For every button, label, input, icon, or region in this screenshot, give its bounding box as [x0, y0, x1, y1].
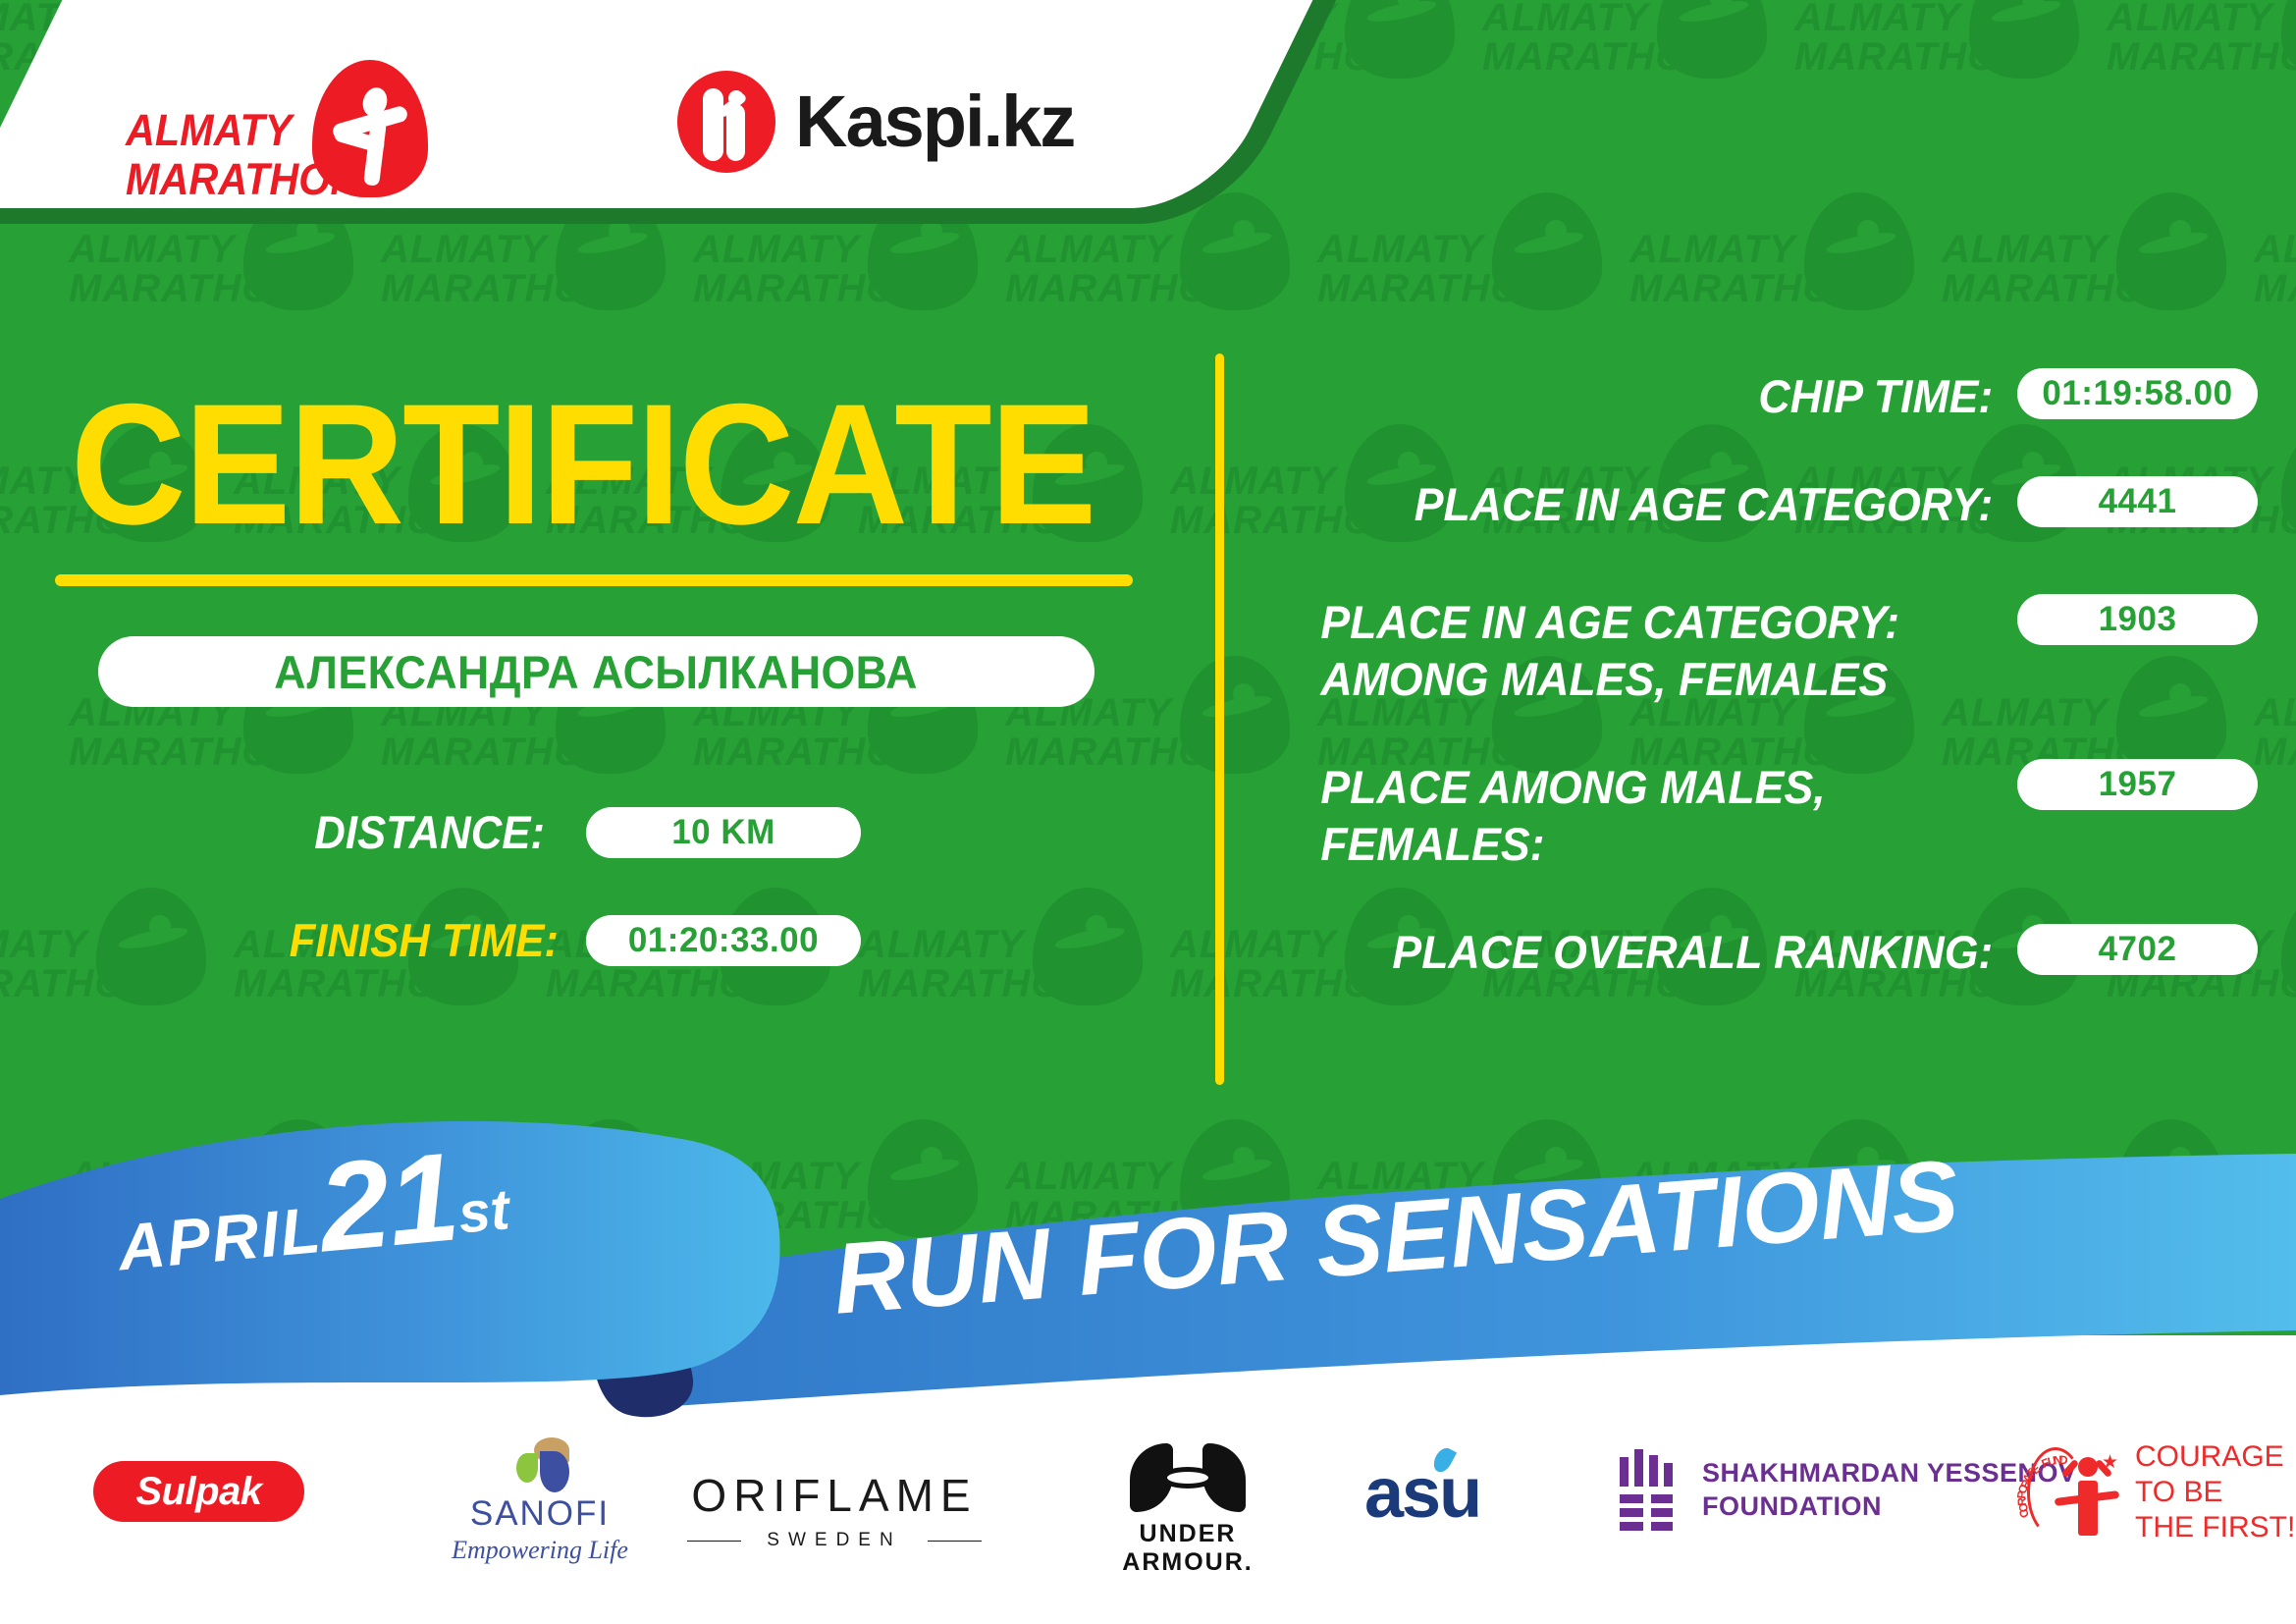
sanofi-label: SANOFI	[422, 1494, 658, 1534]
finish-time-row: FINISH TIME: 01:20:33.00	[270, 913, 861, 967]
watermark-tile: ALMATYMARATHON	[1629, 173, 1924, 399]
finish-time-label: FINISH TIME:	[290, 913, 545, 967]
header-panel: ALMATY MARATHON Kaspi.kz	[0, 0, 1394, 290]
ribbon-ordinal: st	[455, 1177, 511, 1245]
result-row-place-age-category: PLACE IN AGE CATEGORY: 4441	[1266, 476, 2258, 533]
sponsor-oriflame: ORIFLAME SWEDEN	[687, 1469, 982, 1551]
ribbon-day: 21	[313, 1126, 463, 1278]
almaty-marathon-wordmark: ALMATY MARATHON	[126, 106, 306, 204]
watermark-tile: ALMATYMARATHON	[1794, 0, 2089, 167]
sponsor-sulpak: Sulpak	[93, 1461, 304, 1522]
participant-name-pill: АЛЕКСАНДРА АСЫЛКАНОВА	[98, 636, 1095, 707]
kaspi-people-icon	[677, 71, 775, 173]
marathon-line: MARATHON	[126, 155, 306, 204]
oriflame-label: ORIFLAME	[687, 1469, 982, 1522]
watermark-tile: ALMATYMARATHON	[858, 868, 1152, 1094]
result-row-place-overall: PLACE OVERALL RANKING: 4702	[1266, 924, 2258, 981]
place-overall-value: 4702	[2017, 924, 2258, 975]
ribbon-month: APRIL	[115, 1193, 325, 1284]
place-age-category-value: 4441	[2017, 476, 2258, 527]
label-line-1: PLACE IN AGE CATEGORY:	[1320, 594, 1993, 651]
label-line-2: AMONG MALES, FEMALES	[1320, 651, 1993, 708]
vertical-divider	[1215, 353, 1224, 1085]
result-row-chip-time: CHIP TIME: 01:19:58.00	[1266, 368, 2258, 425]
chip-time-label: CHIP TIME:	[1304, 368, 2017, 425]
asu-label: asu	[1364, 1453, 1480, 1534]
sponsor-under-armour: UNDER ARMOUR.	[1075, 1443, 1301, 1577]
courage-line-1: COURAGE	[2135, 1439, 2295, 1475]
distance-label: DISTANCE:	[290, 805, 545, 859]
kaspi-wordmark: Kaspi.kz	[795, 82, 1074, 161]
under-armour-label: UNDER ARMOUR.	[1075, 1520, 1301, 1577]
almaty-line: ALMATY	[126, 106, 306, 155]
watermark-tile: ALMATYMARATHON	[2254, 173, 2296, 399]
sulpak-logo: Sulpak	[93, 1461, 304, 1522]
sulpak-label: Sulpak	[135, 1470, 261, 1514]
place-overall-label: PLACE OVERALL RANKING:	[1304, 924, 2017, 981]
sponsor-bar: Sulpak SANOFI Empowering Life ORIFLAME S…	[0, 1432, 2296, 1598]
courage-fund-icon: CORPORATE FUND ★	[2027, 1439, 2121, 1545]
watermark-tile: ALMATYMARATHON	[234, 868, 528, 1094]
courage-fund-label: COURAGE TO BE THE FIRST!	[2135, 1439, 2295, 1545]
under-armour-icon	[1130, 1443, 1246, 1512]
title-underline	[55, 574, 1133, 586]
runner-figure-icon: ★	[2058, 1451, 2119, 1542]
distance-row: DISTANCE: 10 KM	[270, 805, 861, 859]
courage-line-3: THE FIRST!	[2135, 1510, 2295, 1545]
results-panel: CHIP TIME: 01:19:58.00 PLACE IN AGE CATE…	[1266, 368, 2258, 1006]
sponsor-courage-fund: CORPORATE FUND ★ COURAGE TO BE THE FIRST…	[2027, 1439, 2295, 1545]
label-line-1: PLACE AMONG MALES,	[1320, 759, 1993, 816]
sanofi-icon	[501, 1437, 579, 1490]
watermark-tile: ALMATYMARATHON	[1942, 173, 2236, 399]
label-line-2: FEMALES:	[1320, 816, 1993, 873]
place-among-gender-value: 1957	[2017, 759, 2258, 810]
finish-time-value: 01:20:33.00	[586, 915, 861, 966]
chip-time-value: 01:19:58.00	[2017, 368, 2258, 419]
sanofi-tagline: Empowering Life	[422, 1536, 658, 1565]
place-age-category-gender-label: PLACE IN AGE CATEGORY: AMONG MALES, FEMA…	[1304, 594, 2017, 708]
star-icon: ★	[2102, 1453, 2118, 1472]
place-age-category-label: PLACE IN AGE CATEGORY:	[1304, 476, 2017, 533]
watermark-tile: ALMATYMARATHON	[2254, 636, 2296, 862]
courage-line-2: TO BE	[2135, 1475, 2295, 1510]
sponsor-asu: asu	[1364, 1453, 1480, 1534]
result-row-place-among-gender: PLACE AMONG MALES, FEMALES: 1957	[1266, 759, 2258, 873]
place-among-gender-label: PLACE AMONG MALES, FEMALES:	[1304, 759, 2017, 873]
sponsor-sanofi: SANOFI Empowering Life	[422, 1437, 658, 1565]
distance-value: 10 KM	[586, 807, 861, 858]
sponsor-yessenov-foundation: SHAKHMARDAN YESSENOV FOUNDATION	[1620, 1449, 2077, 1530]
yessenov-icon	[1620, 1449, 1681, 1530]
asu-drop-icon	[1430, 1445, 1457, 1476]
almaty-marathon-logo: ALMATY MARATHON	[126, 61, 450, 198]
result-row-place-age-category-gender: PLACE IN AGE CATEGORY: AMONG MALES, FEMA…	[1266, 594, 2258, 708]
certificate-page: ALMATYMARATHONALMATYMARATHONALMATYMARATH…	[0, 0, 2296, 1624]
watermark-tile: ALMATYMARATHON	[546, 868, 840, 1094]
oriflame-sub: SWEDEN	[687, 1530, 982, 1551]
watermark-tile: ALMATYMARATHON	[2107, 0, 2296, 167]
page-title: CERTIFICATE	[71, 379, 1095, 551]
participant-name: АЛЕКСАНДРА АСЫЛКАНОВА	[275, 645, 919, 699]
event-ribbon: APRIL21st RUN FOR SENSATIONS	[0, 1085, 2296, 1424]
place-age-category-gender-value: 1903	[2017, 594, 2258, 645]
watermark-tile: ALMATYMARATHON	[1482, 0, 1777, 167]
watermark-tile: ALMATYMARATHON	[0, 868, 216, 1094]
